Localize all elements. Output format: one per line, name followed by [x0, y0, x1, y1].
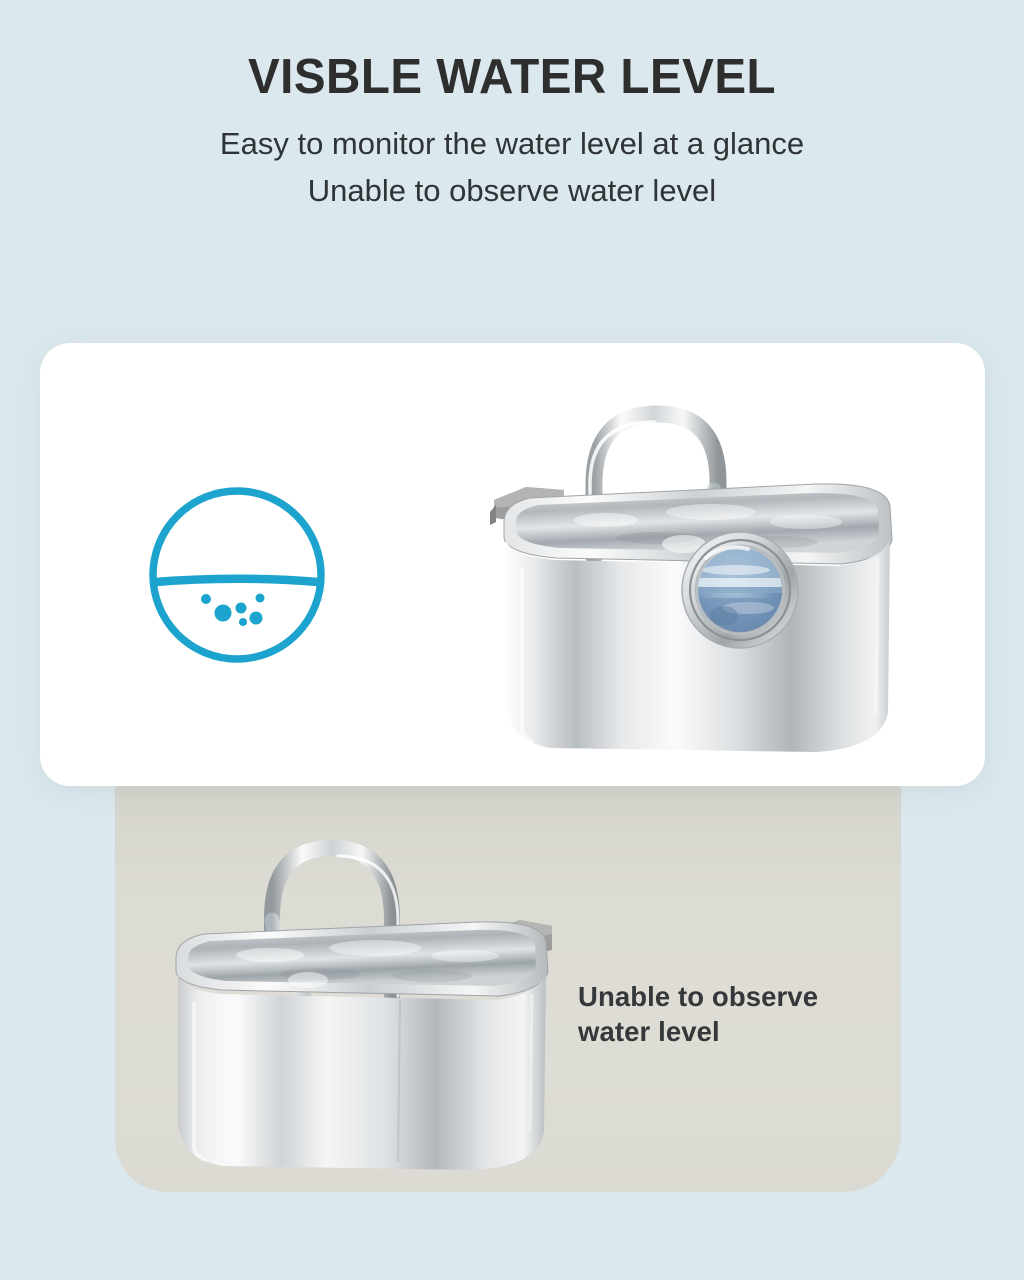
subtitle-line-2: Unable to observe water level — [0, 169, 1024, 214]
no-window-caption: Unable to observe water level — [578, 979, 898, 1049]
header: VISBLE WATER LEVEL Easy to monitor the w… — [0, 0, 1024, 214]
fountain-body — [178, 972, 546, 1170]
no-window-caption-line-2: water level — [578, 1014, 898, 1049]
no-window-caption-line-1: Unable to observe — [578, 979, 898, 1014]
water-level-window — [682, 532, 798, 648]
fountain-lid — [176, 922, 548, 996]
window-water-detail — [698, 548, 782, 632]
water-fountain-without-level-window — [160, 800, 560, 1180]
water-fountain-with-level-window — [486, 372, 916, 772]
water-level-circle-icon — [144, 482, 330, 668]
page-title: VISBLE WATER LEVEL — [15, 52, 1008, 104]
subtitle-line-1: Easy to monitor the water level at a gla… — [0, 122, 1024, 167]
